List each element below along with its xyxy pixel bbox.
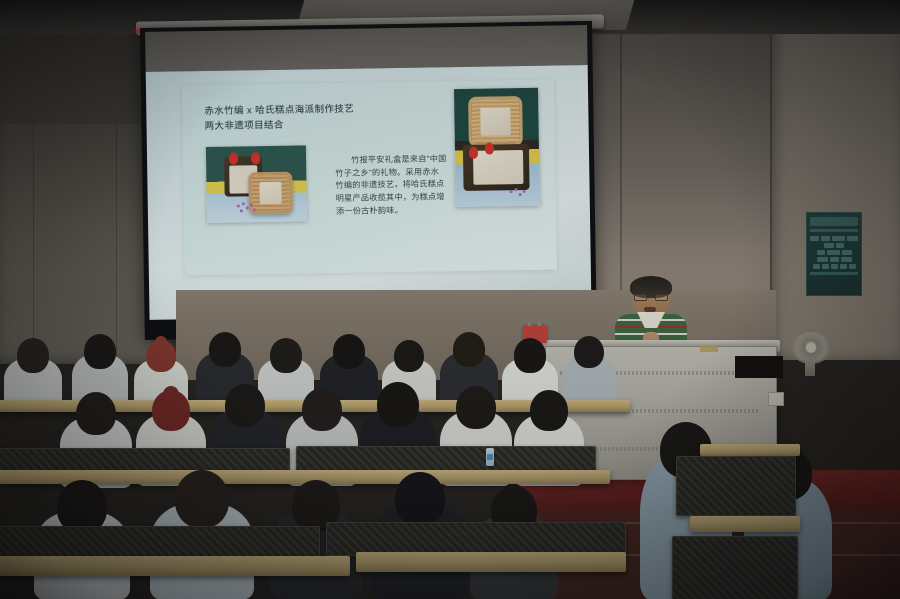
attendee-head xyxy=(394,340,424,372)
attendee-head xyxy=(209,332,241,367)
water-bottle[interactable] xyxy=(486,448,494,466)
attendee-head xyxy=(270,338,302,373)
attendee-head xyxy=(453,332,485,367)
gift-box-lid xyxy=(468,96,523,147)
desk-row xyxy=(690,516,800,532)
attendee-head xyxy=(377,382,419,427)
presenter-mouth xyxy=(644,307,656,312)
red-tag-icon xyxy=(251,152,260,164)
red-tag-icon xyxy=(469,147,478,159)
eyeglasses-icon xyxy=(634,294,668,301)
slide-photo-open-box xyxy=(454,88,540,207)
slide-title-line-2: 两大非遗项目结合 xyxy=(204,116,444,134)
seat-back[interactable] xyxy=(0,526,320,560)
attendee-head xyxy=(514,338,546,373)
right-wall-panel xyxy=(770,20,900,360)
desk-row xyxy=(700,444,800,456)
attendee-head xyxy=(530,390,568,431)
seated-audience xyxy=(0,330,790,599)
slide-title: 赤水竹编 x 哈氏糕点海派制作技艺 两大非遗项目结合 xyxy=(204,101,444,134)
seat-back[interactable] xyxy=(326,522,626,556)
fan-hub xyxy=(806,343,816,353)
screen-surface: 赤水竹编 x 哈氏糕点海派制作技艺 两大非遗项目结合 xyxy=(146,65,592,320)
slide: 赤水竹编 x 哈氏糕点海派制作技艺 两大非遗项目结合 xyxy=(182,80,557,276)
attendee-head xyxy=(456,386,496,429)
screen-upper-band xyxy=(145,25,588,72)
attendee-head xyxy=(395,472,445,526)
seat-back[interactable] xyxy=(672,536,798,599)
lecture-hall-photo: 赤水竹编 x 哈氏糕点海派制作技艺 两大非遗项目结合 xyxy=(0,0,900,599)
slide-photo-closed-boxes xyxy=(206,145,307,223)
attendee-head xyxy=(84,334,116,369)
gift-box-lid-label xyxy=(480,107,510,135)
attendee-head xyxy=(175,470,229,528)
desk-row xyxy=(356,552,626,572)
flower-sprig xyxy=(235,202,257,216)
gift-box-woven-label xyxy=(259,182,281,204)
attendee-head xyxy=(574,336,604,368)
attendee-head xyxy=(17,338,49,373)
hair-bun xyxy=(155,336,168,349)
red-tag-icon xyxy=(229,152,238,164)
attendee-head xyxy=(333,334,365,369)
attendee-head xyxy=(76,392,116,435)
gift-box-contents xyxy=(473,150,524,185)
red-tag-icon xyxy=(485,142,494,154)
slide-body-text: 竹报平安礼盒是来自"中国竹子之乡"的礼物。采用赤水竹编的非遗技艺，将哈氏糕点明星… xyxy=(335,153,448,218)
organizational-chart-poster xyxy=(806,212,862,296)
attendee-head xyxy=(225,384,265,427)
wall-mounted-fan xyxy=(790,330,832,376)
desk-row xyxy=(0,556,350,576)
fan-mount xyxy=(805,360,815,376)
seat-back[interactable] xyxy=(676,456,796,516)
seat-back[interactable] xyxy=(296,446,596,472)
attendee-head xyxy=(302,388,342,431)
hair-bun xyxy=(163,386,179,402)
